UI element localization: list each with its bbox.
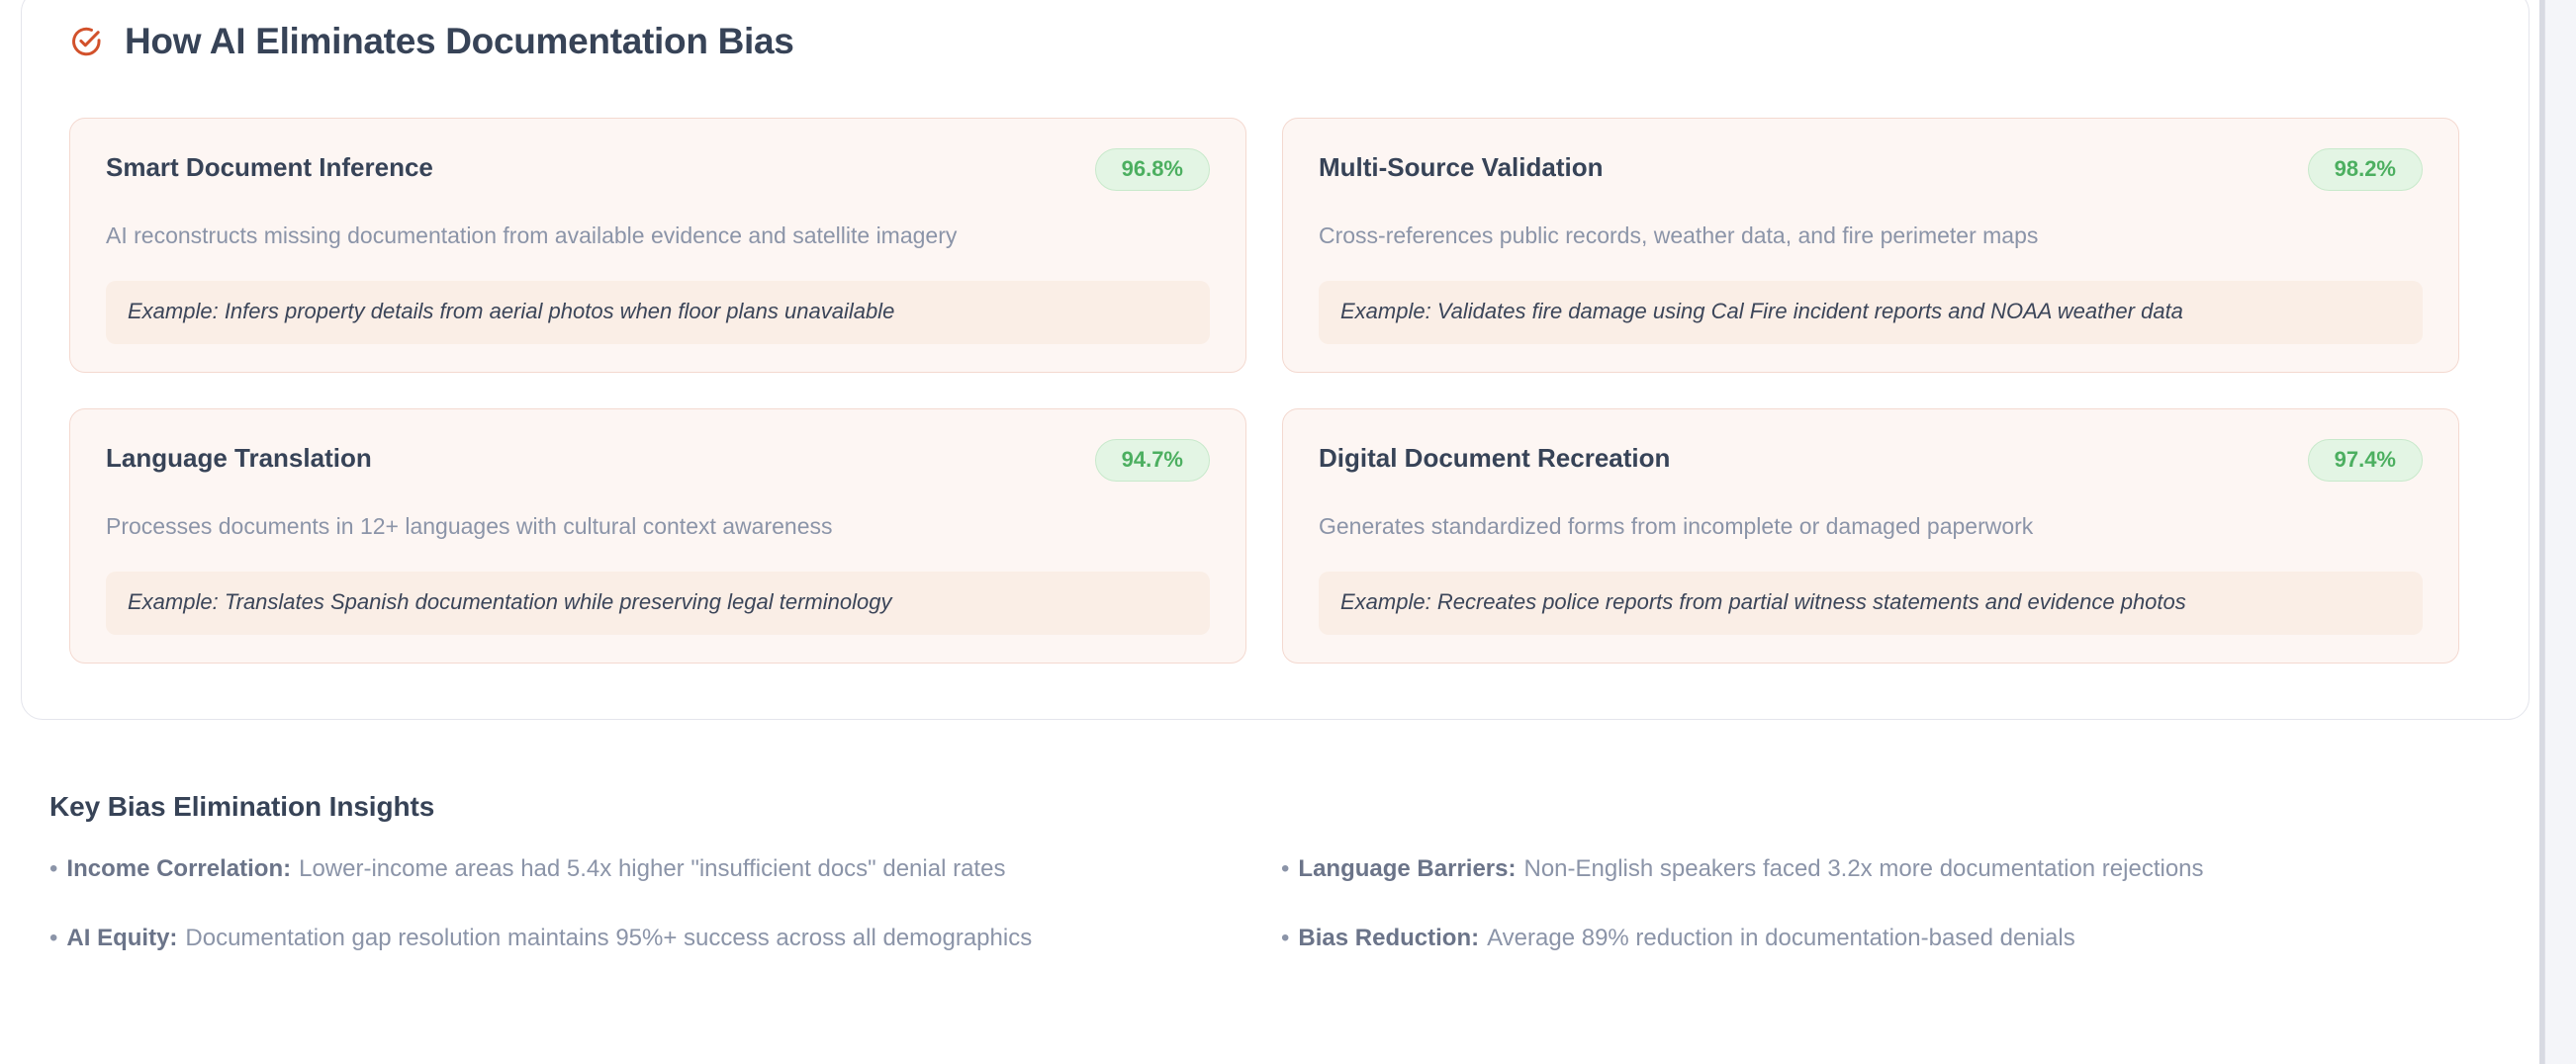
card-header: Digital Document Recreation 97.4% <box>1319 439 2423 482</box>
card-example: Example: Infers property details from ae… <box>106 281 1210 344</box>
insight-label: AI Equity: <box>66 924 177 953</box>
feature-card-grid: Smart Document Inference 96.8% AI recons… <box>69 118 2483 664</box>
card-header: Smart Document Inference 96.8% <box>106 148 1210 191</box>
insights-section: Key Bias Elimination Insights • Income C… <box>49 791 2453 953</box>
insight-text: Lower-income areas had 5.4x higher "insu… <box>299 854 1005 884</box>
card-description: Processes documents in 12+ languages wit… <box>106 511 1210 542</box>
card-description: Cross-references public records, weather… <box>1319 221 2423 251</box>
list-item: • Bias Reduction: Average 89% reduction … <box>1281 924 2453 953</box>
bullet-icon: • <box>49 924 57 953</box>
page-scroll-region: How AI Eliminates Documentation Bias Sma… <box>0 0 2539 1051</box>
card-example: Example: Validates fire damage using Cal… <box>1319 281 2423 344</box>
page-title: How AI Eliminates Documentation Bias <box>125 23 794 59</box>
accuracy-badge: 97.4% <box>2308 439 2423 482</box>
list-item: • Income Correlation: Lower-income areas… <box>49 854 1281 884</box>
panel-header: How AI Eliminates Documentation Bias <box>69 23 794 59</box>
insight-label: Bias Reduction: <box>1298 924 1479 953</box>
insight-text: Documentation gap resolution maintains 9… <box>185 924 1032 953</box>
bullet-icon: • <box>49 854 57 884</box>
insight-text: Average 89% reduction in documentation-b… <box>1487 924 2075 953</box>
check-circle-icon <box>69 25 103 58</box>
insight-label: Language Barriers: <box>1298 854 1516 884</box>
accuracy-badge: 98.2% <box>2308 148 2423 191</box>
bullet-icon: • <box>1281 854 1289 884</box>
feature-card[interactable]: Smart Document Inference 96.8% AI recons… <box>69 118 1246 373</box>
insight-label: Income Correlation: <box>66 854 291 884</box>
accuracy-badge: 96.8% <box>1095 148 1210 191</box>
insights-title: Key Bias Elimination Insights <box>49 791 2453 823</box>
card-header: Multi-Source Validation 98.2% <box>1319 148 2423 191</box>
card-title: Smart Document Inference <box>106 148 433 183</box>
list-item: • AI Equity: Documentation gap resolutio… <box>49 924 1281 953</box>
card-example: Example: Translates Spanish documentatio… <box>106 572 1210 635</box>
card-title: Digital Document Recreation <box>1319 439 1670 474</box>
insight-text: Non-English speakers faced 3.2x more doc… <box>1523 854 2203 884</box>
documentation-bias-panel: How AI Eliminates Documentation Bias Sma… <box>21 0 2530 720</box>
card-description: Generates standardized forms from incomp… <box>1319 511 2423 542</box>
card-title: Language Translation <box>106 439 372 474</box>
list-item: • Language Barriers: Non-English speaker… <box>1281 854 2453 884</box>
card-header: Language Translation 94.7% <box>106 439 1210 482</box>
feature-card[interactable]: Digital Document Recreation 97.4% Genera… <box>1282 408 2459 664</box>
accuracy-badge: 94.7% <box>1095 439 1210 482</box>
card-title: Multi-Source Validation <box>1319 148 1603 183</box>
card-example: Example: Recreates police reports from p… <box>1319 572 2423 635</box>
bullet-icon: • <box>1281 924 1289 953</box>
screen-root: How AI Eliminates Documentation Bias Sma… <box>0 0 2576 1064</box>
insights-grid: • Income Correlation: Lower-income areas… <box>49 854 2453 953</box>
card-description: AI reconstructs missing documentation fr… <box>106 221 1210 251</box>
feature-card[interactable]: Multi-Source Validation 98.2% Cross-refe… <box>1282 118 2459 373</box>
right-gutter <box>2544 0 2576 1064</box>
feature-card[interactable]: Language Translation 94.7% Processes doc… <box>69 408 1246 664</box>
